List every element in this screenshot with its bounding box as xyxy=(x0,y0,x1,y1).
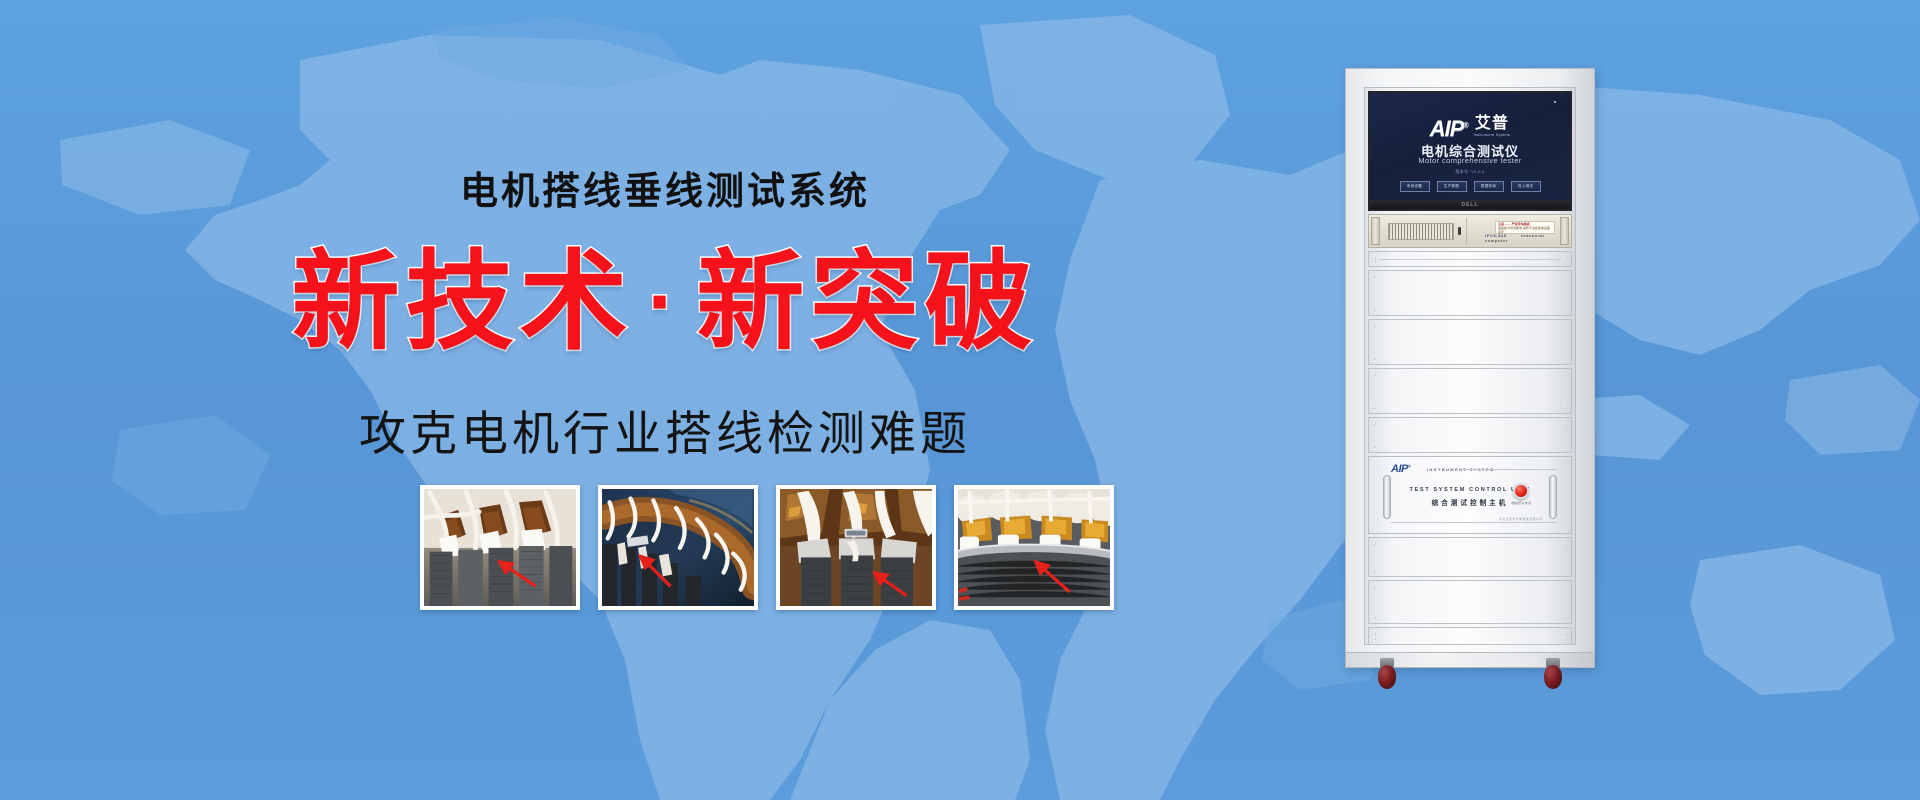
panel-screw xyxy=(1373,637,1376,640)
headline-right: 新突破 xyxy=(696,241,1038,362)
monitor-bezel: DELL xyxy=(1370,200,1570,209)
control-unit-title-cn: 综合测试控制主机 xyxy=(1369,497,1571,507)
ipc-keyhole-icon xyxy=(1458,227,1461,235)
screen-button-query[interactable]: 数据查询 xyxy=(1474,181,1504,192)
screen-indicator-dot xyxy=(1554,101,1556,103)
panel-screw xyxy=(1564,637,1567,640)
panel-screw xyxy=(1564,357,1567,360)
photo-thumbnail-2[interactable] xyxy=(598,485,758,610)
main-power-button-label: 电源总开关 电 源 xyxy=(1509,502,1533,506)
panel-seam xyxy=(1379,259,1561,260)
aip-logo: AIP® xyxy=(1430,116,1468,142)
aip-logo-text: AIP xyxy=(1430,116,1464,141)
photo-thumbnail-1[interactable] xyxy=(420,485,580,610)
red-arrow-annotation-1 xyxy=(424,489,576,606)
rack-ear-left xyxy=(1371,217,1380,245)
aip-logo-cn-text: 艾普 xyxy=(1475,115,1509,132)
caster-wheel-icon xyxy=(1544,665,1562,689)
subtitle-top: 电机搭线垂线测试系统 xyxy=(0,160,1330,215)
panel-screw xyxy=(1373,259,1376,262)
caster-wheel-left xyxy=(1377,658,1397,690)
headline-block: 电机搭线垂线测试系统 新技术·新突破 攻克电机行业搭线检测难题 xyxy=(0,0,1330,800)
photo-thumbnail-3[interactable] xyxy=(776,485,936,610)
panel-screw xyxy=(1373,357,1376,360)
screen-button-start-test[interactable]: 进入测试 xyxy=(1511,181,1541,192)
ventilation-grille-icon xyxy=(1388,223,1454,240)
panel-screw xyxy=(1373,445,1376,448)
aip-logo-cn-sub: Instrument System xyxy=(1474,132,1511,137)
control-unit-title-en: TEST SYSTEM CONTROL UNIT xyxy=(1369,487,1571,493)
main-power-button[interactable] xyxy=(1513,483,1529,499)
panel-screw xyxy=(1373,616,1376,619)
rack-panel-blank-7[interactable] xyxy=(1368,627,1572,645)
rack-panel-drawer[interactable] xyxy=(1368,251,1572,267)
ipc-front-panel: IPC6-820Industrial computer 注意 —— 严禁带电插拔… xyxy=(1382,217,1558,245)
red-arrow-annotation-2 xyxy=(602,489,754,606)
panel-screw xyxy=(1564,308,1567,311)
page-title: 新技术·新突破 xyxy=(0,240,1330,364)
test-equipment-cabinet: AIP®艾普Instrument System 电机综合测试仪 Motor co… xyxy=(1345,68,1595,688)
aip-brand-text: AIP xyxy=(1391,463,1408,475)
caster-wheel-icon xyxy=(1378,665,1396,689)
red-arrow-annotation-4 xyxy=(958,489,1110,606)
industrial-computer-unit: IPC6-820Industrial computer 注意 —— 严禁带电插拔… xyxy=(1368,214,1572,248)
rack-ear-right xyxy=(1560,217,1569,245)
caster-wheel-right xyxy=(1543,658,1563,690)
rack-panel-blank-3[interactable] xyxy=(1368,368,1572,414)
aip-logo-cn: 艾普Instrument System xyxy=(1474,109,1511,137)
promo-banner: 电机搭线垂线测试系统 新技术·新突破 攻克电机行业搭线检测难题 xyxy=(0,0,1920,800)
panel-screw xyxy=(1564,445,1567,448)
aip-brand-logo: AIP® xyxy=(1391,463,1410,475)
warning-label: 注意 —— 严禁带电插拔 插拔板卡时请断电 操作不当会造成设备损坏 xyxy=(1495,221,1555,234)
test-system-control-unit: AIP® INSTRUMENT SYSTEM TEST SYSTEM CONTR… xyxy=(1368,456,1572,534)
monitor-screen[interactable]: AIP®艾普Instrument System 电机综合测试仪 Motor co… xyxy=(1370,93,1570,200)
cabinet-shell: AIP®艾普Instrument System 电机综合测试仪 Motor co… xyxy=(1345,68,1595,668)
rack-panel-blank-2[interactable] xyxy=(1368,319,1572,365)
registered-mark-icon: ® xyxy=(1463,123,1467,130)
panel-screw xyxy=(1564,259,1567,262)
panel-screw xyxy=(1373,569,1376,572)
panel-screw xyxy=(1564,406,1567,409)
monitor-brand-label: DELL xyxy=(1461,202,1478,208)
screen-button-settings[interactable]: 系统设置 xyxy=(1400,181,1430,192)
rack-panel-blank-6[interactable] xyxy=(1368,580,1572,624)
screen-button-production-data[interactable]: 生产数据 xyxy=(1437,181,1467,192)
tagline: 攻克电机行业搭线检测难题 xyxy=(0,395,1330,464)
ipc-right-section: IPC6-820Industrial computer 注意 —— 严禁带电插拔… xyxy=(1466,218,1558,244)
panel-screw xyxy=(1373,308,1376,311)
warning-body: 插拔板卡时请断电 操作不当会造成设备损坏 xyxy=(1498,227,1552,235)
rack-panel-blank-4[interactable] xyxy=(1368,417,1572,453)
rack-panel-blank-1[interactable] xyxy=(1368,270,1572,316)
photo-strip xyxy=(420,485,1114,610)
red-arrow-annotation-3 xyxy=(780,489,932,606)
headline-separator-dot: · xyxy=(634,254,697,350)
headline-left: 新技术 xyxy=(292,241,634,362)
photo-thumbnail-4[interactable] xyxy=(954,485,1114,610)
decor-rule-bottom xyxy=(1391,522,1557,523)
screen-title-en: Motor comprehensive tester xyxy=(1370,156,1570,165)
rack-panel-blank-5[interactable] xyxy=(1368,537,1572,577)
panel-screw xyxy=(1564,569,1567,572)
monitor: AIP®艾普Instrument System 电机综合测试仪 Motor co… xyxy=(1368,91,1572,211)
panel-screw xyxy=(1373,406,1376,409)
screen-version: 版本号: V2.0.3 xyxy=(1370,169,1570,175)
manufacturer-footer: 苏州艾普半导体测试有限公司 xyxy=(1499,517,1543,521)
decor-rule-top xyxy=(1461,469,1557,470)
screen-brand-row: AIP®艾普Instrument System xyxy=(1370,109,1570,142)
panel-screw xyxy=(1564,616,1567,619)
cabinet-rack: AIP®艾普Instrument System 电机综合测试仪 Motor co… xyxy=(1364,87,1576,645)
screen-button-row: 系统设置 生产数据 数据查询 进入测试 xyxy=(1370,181,1570,192)
registered-mark-icon: ® xyxy=(1408,463,1410,468)
